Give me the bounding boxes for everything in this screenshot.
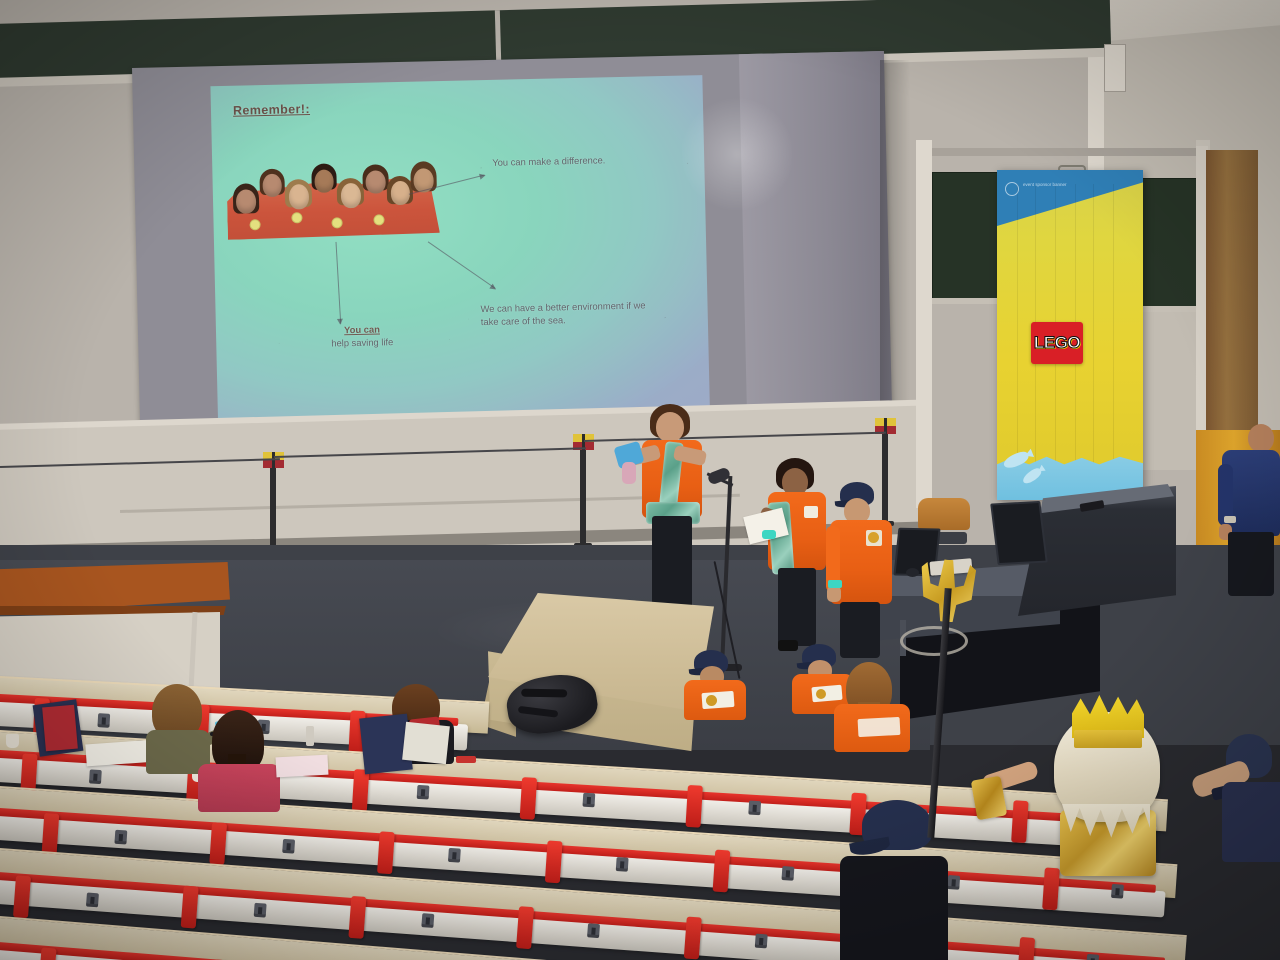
board-track-bracket (1104, 44, 1126, 92)
desk-papers-2 (402, 722, 450, 764)
desk-papers-3 (276, 755, 329, 778)
red-marker (456, 756, 476, 763)
stanchion-post-2 (580, 434, 586, 544)
banner-top-band (997, 170, 1143, 226)
monitor-primary[interactable] (990, 501, 1048, 565)
chalkboard-track (924, 148, 1204, 156)
paper-cup-1 (6, 734, 19, 748)
lego-wordmark: LEGO (1034, 333, 1080, 353)
right-chalkboard-left-panel (932, 172, 1006, 302)
magazine-cover (42, 705, 78, 752)
lecture-hall-photo: Remember!: (0, 0, 1280, 960)
wrist-band (762, 530, 776, 539)
neptune-costume-person (1030, 690, 1180, 880)
slide-arrow-2 (428, 241, 496, 289)
slide-title: Remember!: (233, 102, 310, 118)
bottle (306, 726, 314, 746)
slide-arrow-3 (335, 242, 341, 324)
slide-bubble-environment: We can have a better environment if we t… (480, 298, 651, 329)
lego-banner: event sponsor banner LEGO (997, 170, 1143, 500)
slide-bubble-saving-life-text: help saving life (331, 336, 393, 348)
lego-logo-box: LEGO (1031, 322, 1083, 364)
stanchion-post-3 (882, 418, 888, 522)
slide-team-photo (226, 143, 440, 240)
slide-bubble-saving-life-emphasis: You can (344, 323, 380, 335)
projected-slide: Remember!: (210, 75, 710, 426)
right-chalkboard-right-panel (1136, 178, 1198, 310)
board-frame-left (916, 140, 932, 508)
slide-bubble-saving-life: You can help saving life (302, 321, 423, 350)
crown-band (1074, 730, 1142, 748)
mouse[interactable] (906, 568, 919, 577)
projector-hotspot (681, 93, 794, 215)
banner-header-text: event sponsor banner (1023, 182, 1067, 189)
chalk-rail-right (1134, 306, 1198, 312)
